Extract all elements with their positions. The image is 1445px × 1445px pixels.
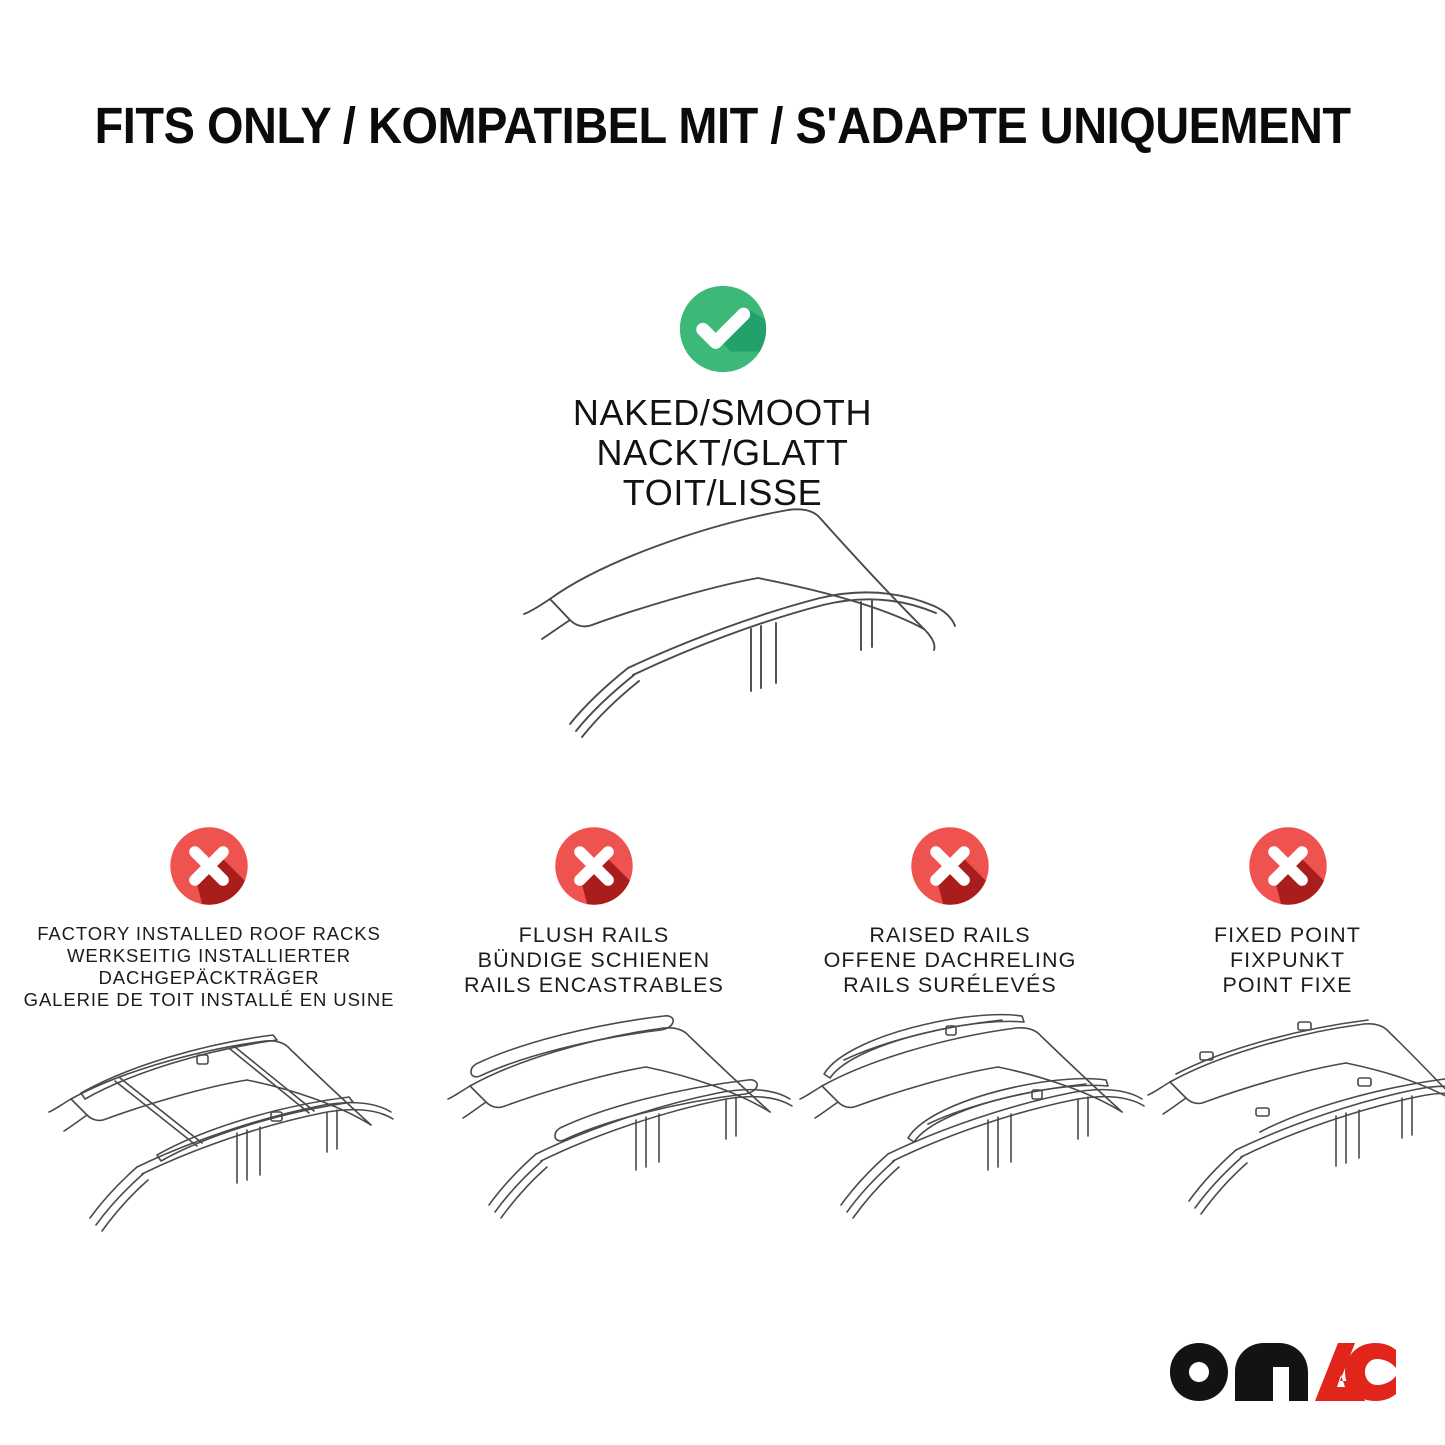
fixed-point-diagram [1130,1002,1445,1232]
incompatible-item-flush-rails: FLUSH RAILS BÜNDIGE SCHIENEN RAILS ENCAS… [418,822,770,1232]
naked-smooth-roof-diagram [0,492,1445,747]
label-line-3: DACHGEPÄCKTRÄGER [0,967,418,989]
check-circle-icon [674,280,772,378]
flush-rails-diagram [418,1002,770,1232]
label-line-2: FIXPUNKT [1130,948,1445,973]
label-line-2: OFFENE DACHRELING [770,948,1130,973]
raised-rails-diagram [770,1002,1130,1232]
label-line-1: FIXED POINT [1130,923,1445,948]
label-line-3: RAILS SURÉLEVÉS [770,973,1130,998]
approved-label-line-2: NACKT/GLATT [0,433,1445,473]
page-title: FITS ONLY / KOMPATIBEL MIT / S'ADAPTE UN… [94,96,1350,155]
factory-roof-rack-diagram [0,1015,418,1245]
label-line-2: WERKSEITIG INSTALLIERTER [0,945,418,967]
label-line-3: POINT FIXE [1130,973,1445,998]
label-line-1: RAISED RAILS [770,923,1130,948]
incompatible-item-factory-roof-racks: FACTORY INSTALLED ROOF RACKS WERKSEITIG … [0,822,418,1245]
header: FITS ONLY / KOMPATIBEL MIT / S'ADAPTE UN… [0,96,1445,155]
incompatible-label: FIXED POINT FIXPUNKT POINT FIXE [1130,923,1445,998]
label-line-3: RAILS ENCASTRABLES [418,973,770,998]
omac-logo [1169,1341,1397,1403]
label-line-4: GALERIE DE TOIT INSTALLÉ EN USINE [0,989,418,1011]
incompatible-section: FACTORY INSTALLED ROOF RACKS WERKSEITIG … [0,822,1445,1245]
approved-label-line-1: NAKED/SMOOTH [0,393,1445,433]
label-line-2: BÜNDIGE SCHIENEN [418,948,770,973]
incompatible-label: RAISED RAILS OFFENE DACHRELING RAILS SUR… [770,923,1130,998]
label-line-1: FACTORY INSTALLED ROOF RACKS [0,923,418,945]
incompatible-item-fixed-point: FIXED POINT FIXPUNKT POINT FIXE [1130,822,1445,1232]
approved-section: NAKED/SMOOTH NACKT/GLATT TOIT/LISSE [0,280,1445,513]
x-circle-icon [1244,822,1332,910]
incompatible-label: FLUSH RAILS BÜNDIGE SCHIENEN RAILS ENCAS… [418,923,770,998]
x-circle-icon [165,822,253,910]
incompatible-item-raised-rails: RAISED RAILS OFFENE DACHRELING RAILS SUR… [770,822,1130,1232]
incompatible-label: FACTORY INSTALLED ROOF RACKS WERKSEITIG … [0,923,418,1011]
label-line-1: FLUSH RAILS [418,923,770,948]
x-circle-icon [550,822,638,910]
x-circle-icon [906,822,994,910]
